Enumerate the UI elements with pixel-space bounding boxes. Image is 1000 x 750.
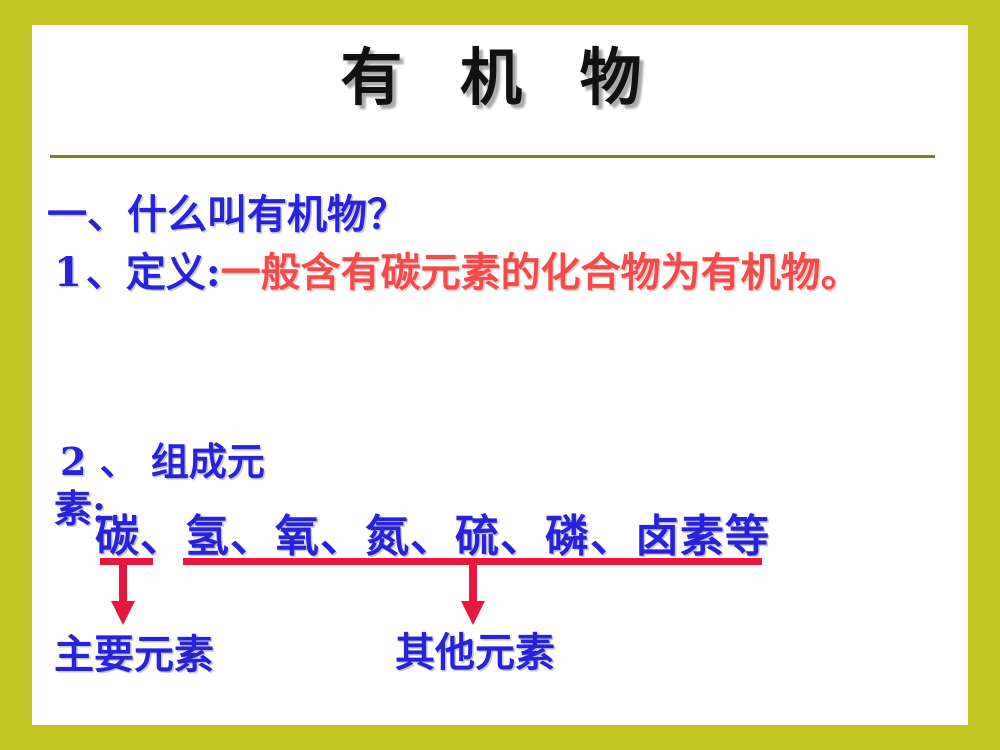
definition-label: 定义: [126,249,221,296]
label-other-elements: 其他元素 [395,633,555,673]
definition-number: 1 [54,249,86,296]
title-divider [50,155,935,158]
definition-separator: 、 [86,249,126,296]
slide-canvas: 有 机 物 一、什么叫有机物？ 1、定义:一般含有碳元素的化合物为有机物。 2 … [32,25,968,725]
section-heading-question: 一、什么叫有机物？ [47,195,407,235]
down-arrow-icon [108,563,138,625]
composition-label-line1: 2 、 组成元 [60,443,265,481]
definition-body: 一般含有碳元素的化合物为有机物。 [221,249,861,296]
down-arrow-icon [458,563,488,625]
label-main-elements: 主要元素 [54,635,214,675]
page-title: 有 机 物 [32,45,968,110]
definition-line: 1、定义:一般含有碳元素的化合物为有机物。 [54,253,861,293]
composition-elements-list: 碳、氢、氧、氮、硫、磷、卤素等 [95,515,770,559]
slide-frame: 有 机 物 一、什么叫有机物？ 1、定义:一般含有碳元素的化合物为有机物。 2 … [0,0,1000,750]
